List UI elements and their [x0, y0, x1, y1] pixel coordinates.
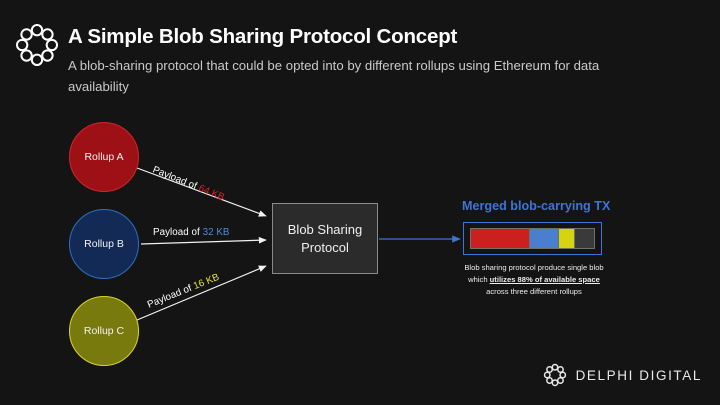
blob-segment-rollup-c-share: [558, 229, 573, 248]
blob-sharing-protocol-box[interactable]: Blob Sharing Protocol: [272, 203, 378, 274]
caption-line-2-prefix: which: [468, 275, 490, 284]
caption-line-3: across three different rollups: [486, 287, 582, 296]
merged-tx-title: Merged blob-carrying TX: [462, 199, 610, 213]
payload-a-prefix: Payload of: [151, 164, 201, 193]
payload-b-prefix: Payload of: [153, 227, 203, 238]
payload-a-size: 64 KB: [197, 183, 226, 203]
page-subtitle: A blob-sharing protocol that could be op…: [68, 55, 638, 98]
slide-canvas: A Simple Blob Sharing Protocol Concept A…: [0, 0, 720, 405]
caption-line-2-emphasis: utilizes 88% of available space: [490, 275, 600, 284]
footer-logo-text: DELPHI DIGITAL: [576, 368, 702, 383]
arrow-rollup-c: [137, 266, 266, 320]
protocol-box-line1: Blob Sharing: [288, 222, 362, 237]
merged-blob-caption: Blob sharing protocol produce single blo…: [440, 262, 628, 297]
payload-label-b: Payload of 32 KB: [153, 227, 230, 238]
rollup-node-c[interactable]: Rollup C: [69, 296, 139, 366]
payload-label-c: Payload of 16 KB: [146, 272, 221, 311]
payload-c-prefix: Payload of: [146, 282, 196, 311]
payload-c-size: 16 KB: [192, 272, 221, 292]
arrow-rollup-b: [141, 240, 266, 244]
protocol-box-text: Blob Sharing Protocol: [288, 221, 362, 255]
payload-label-a: Payload of 64 KB: [151, 164, 226, 203]
rollup-c-label: Rollup C: [84, 325, 124, 337]
rollup-a-label: Rollup A: [84, 151, 123, 163]
payload-b-size: 32 KB: [203, 227, 230, 238]
merged-blob-frame[interactable]: [463, 222, 602, 255]
page-title: A Simple Blob Sharing Protocol Concept: [68, 25, 457, 49]
rollup-node-a[interactable]: Rollup A: [69, 122, 139, 192]
blob-segment-rollup-b-share: [529, 229, 559, 248]
footer-logo: DELPHI DIGITAL: [543, 363, 702, 387]
blob-segment-unused-space: [574, 229, 594, 248]
protocol-box-line2: Protocol: [301, 240, 349, 255]
rollup-b-label: Rollup B: [84, 238, 124, 250]
caption-line-1: Blob sharing protocol produce single blo…: [464, 263, 603, 272]
delphi-ring-icon: [14, 22, 60, 68]
merged-blob-bar: [470, 228, 595, 249]
rollup-node-b[interactable]: Rollup B: [69, 209, 139, 279]
delphi-ring-icon: [543, 363, 567, 387]
blob-segment-rollup-a-share: [471, 229, 529, 248]
